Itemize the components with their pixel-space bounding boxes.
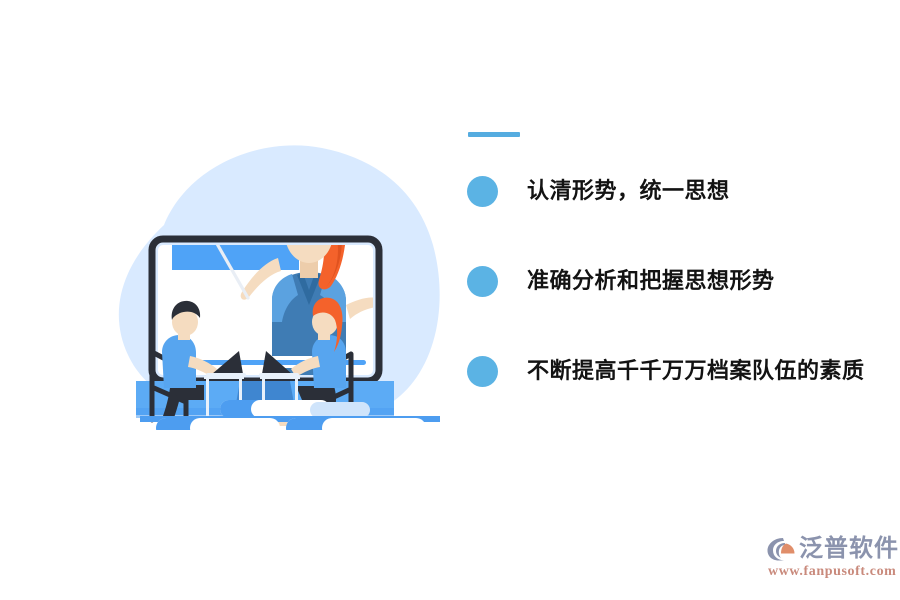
list-item: 认清形势，统一思想 bbox=[467, 168, 887, 214]
fanpu-logo-icon bbox=[766, 536, 796, 562]
bullet-list: 认清形势，统一思想 准确分析和把握思想形势 不断提高千千万万档案队伍的素质 bbox=[467, 132, 887, 394]
online-classroom-illustration bbox=[100, 130, 460, 430]
accent-rule bbox=[468, 132, 520, 137]
watermark-logo: 泛普软件 www.fanpusoft.com bbox=[766, 536, 899, 579]
bullet-text: 认清形势，统一思想 bbox=[527, 179, 730, 203]
list-item: 准确分析和把握思想形势 bbox=[467, 258, 887, 304]
slide-canvas: 认清形势，统一思想 准确分析和把握思想形势 不断提高千千万万档案队伍的素质 泛普… bbox=[0, 0, 900, 600]
bullet-text: 不断提高千千万万档案队伍的素质 bbox=[527, 359, 865, 383]
bullet-dot-icon bbox=[467, 356, 498, 387]
brand-url: www.fanpusoft.com bbox=[768, 565, 896, 579]
brand-name: 泛普软件 bbox=[799, 537, 899, 561]
bullet-dot-icon bbox=[467, 176, 498, 207]
student-left-desk bbox=[204, 376, 244, 379]
bullet-dot-icon bbox=[467, 266, 498, 297]
list-item: 不断提高千千万万档案队伍的素质 bbox=[467, 348, 887, 394]
bullet-text: 准确分析和把握思想形势 bbox=[527, 269, 775, 293]
student-right-desk bbox=[260, 376, 300, 379]
watermark-brand-row: 泛普软件 bbox=[766, 536, 899, 562]
